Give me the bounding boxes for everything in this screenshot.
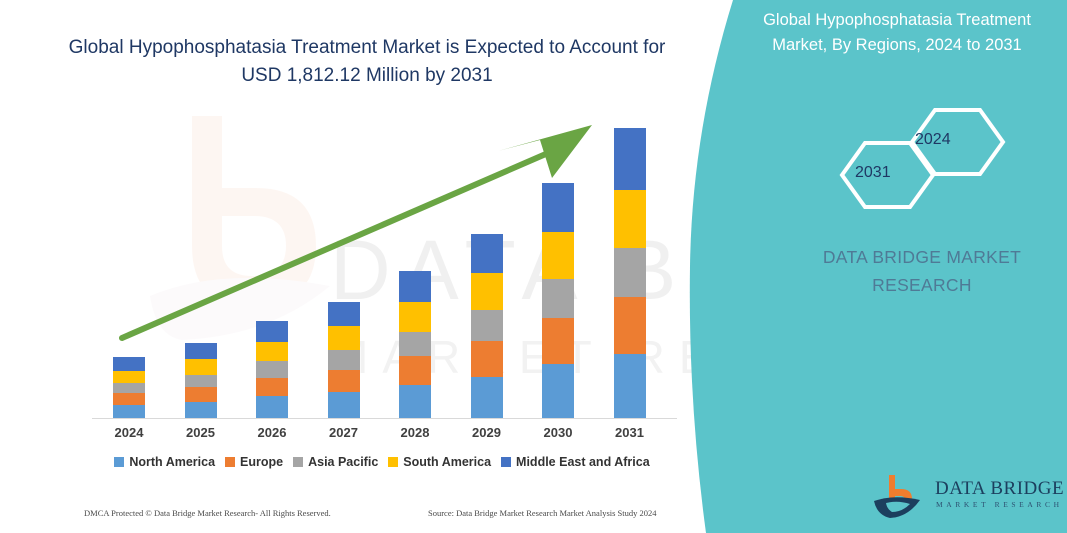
data-bridge-logo-icon xyxy=(872,473,930,525)
logo-name: DATA BRIDGE xyxy=(935,478,1064,500)
hexagon-group xyxy=(820,95,1010,220)
hexagon-2031-label: 2031 xyxy=(855,164,891,182)
logo-tagline: MARKET RESEARCH xyxy=(936,500,1063,509)
panel-brand-text: DATA BRIDGE MARKET RESEARCH xyxy=(772,243,1067,299)
panel-title: Global Hypophosphatasia Treatment Market… xyxy=(742,8,1052,58)
infographic-canvas: DATA BRIDGE MARKET RESEARCH Global Hypop… xyxy=(0,0,1067,533)
hexagon-2024-label: 2024 xyxy=(915,131,951,149)
